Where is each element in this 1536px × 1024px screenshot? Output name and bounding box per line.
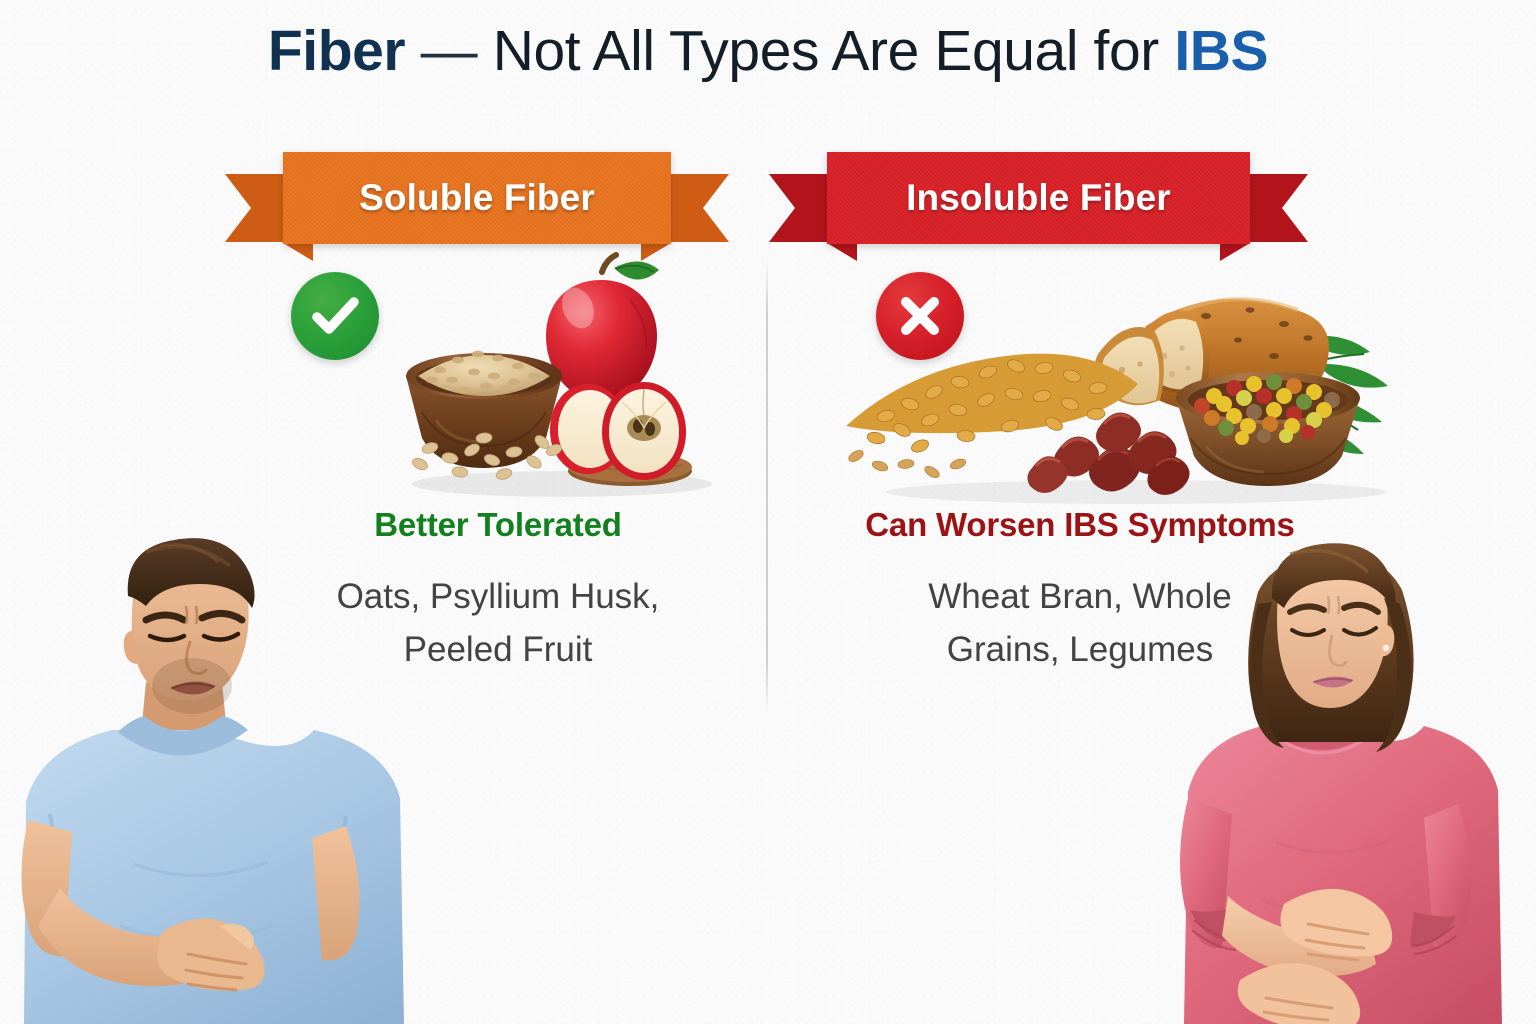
ribbon-body: Insoluble Fiber (827, 152, 1250, 244)
ribbon-tail-right (1244, 174, 1308, 242)
caption-line: Oats, Psyllium Husk, (248, 570, 748, 623)
infographic-canvas: Fiber — Not All Types Are Equal for IBS … (0, 0, 1536, 1024)
ribbon-fold-left (283, 243, 313, 261)
ribbon-tail-left (769, 174, 833, 242)
ribbon-fold-right (1220, 243, 1250, 261)
banner-soluble-fiber: Soluble Fiber (283, 152, 671, 244)
caption-insoluble: Can Worsen IBS Symptoms Wheat Bran, Whol… (800, 506, 1360, 676)
caption-line: Grains, Legumes (800, 623, 1360, 676)
caption-line: Peeled Fruit (248, 623, 748, 676)
banner-insoluble-fiber: Insoluble Fiber (827, 152, 1250, 244)
food-illustration-soluble (392, 252, 732, 500)
banner-label-soluble: Soluble Fiber (359, 177, 595, 219)
title-middle: Not All Types Are Equal for (493, 19, 1175, 83)
caption-line: Wheat Bran, Whole (800, 570, 1360, 623)
cross-circle-icon (876, 272, 964, 360)
ribbon-tail-left (225, 174, 289, 242)
title-word-fiber: Fiber (268, 19, 405, 83)
ribbon-fold-left (827, 243, 857, 261)
title-word-ibs: IBS (1174, 19, 1268, 83)
caption-body-insoluble: Wheat Bran, Whole Grains, Legumes (800, 570, 1360, 676)
ribbon-body: Soluble Fiber (283, 152, 671, 244)
caption-soluble: Better Tolerated Oats, Psyllium Husk, Pe… (248, 506, 748, 676)
ribbon-tail-right (665, 174, 729, 242)
check-circle-icon (291, 272, 379, 360)
title-dash: — (405, 19, 492, 83)
caption-heading-insoluble: Can Worsen IBS Symptoms (800, 506, 1360, 544)
caption-heading-soluble: Better Tolerated (248, 506, 748, 544)
banner-label-insoluble: Insoluble Fiber (906, 177, 1171, 219)
page-title: Fiber — Not All Types Are Equal for IBS (0, 22, 1536, 82)
caption-body-soluble: Oats, Psyllium Husk, Peeled Fruit (248, 570, 748, 676)
column-divider (766, 258, 768, 716)
